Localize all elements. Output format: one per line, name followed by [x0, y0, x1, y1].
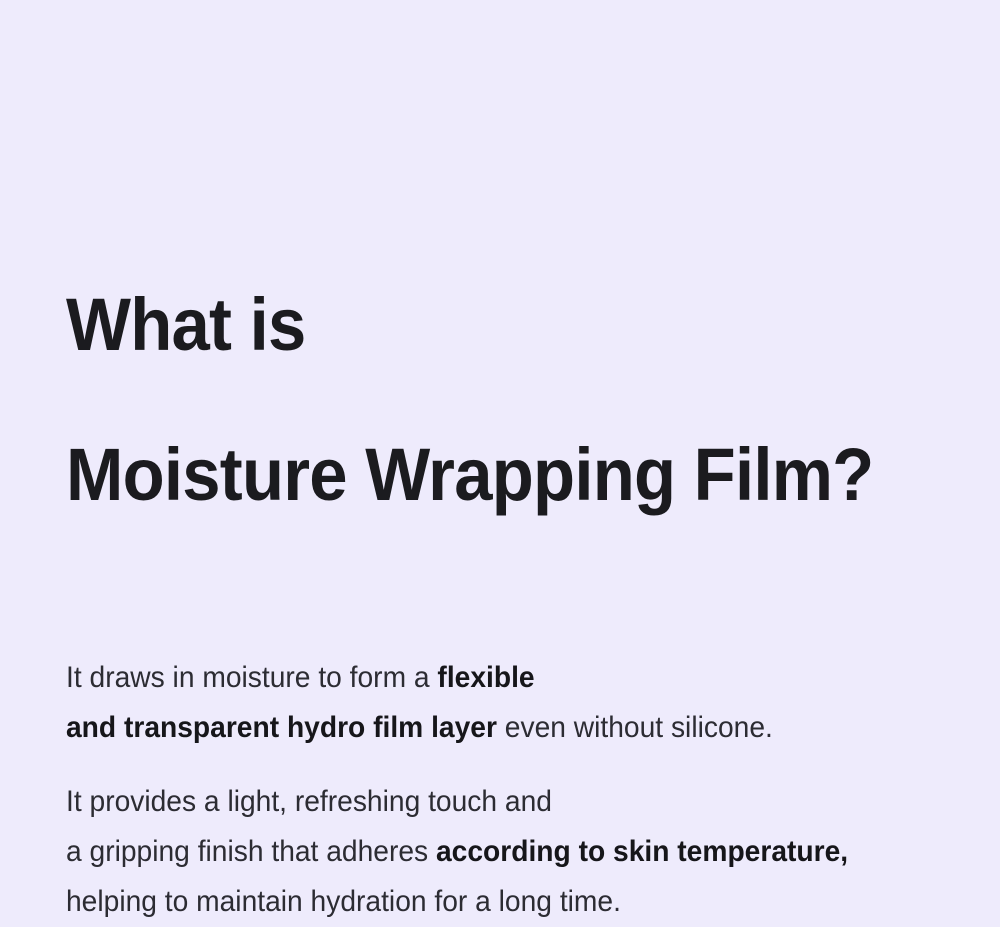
- description-paragraph-2: It provides a light, refreshing touch an…: [66, 777, 912, 927]
- page-title-line-1: What is: [66, 287, 903, 362]
- page-title: What is Moisture Wrapping Film?: [66, 212, 903, 587]
- product-info-section: What is Moisture Wrapping Film? It draws…: [0, 0, 1000, 804]
- emphasis-text: according to skin temperature,: [436, 835, 848, 868]
- paragraph-line: helping to maintain hydration for a long…: [66, 877, 912, 927]
- body-text: a gripping finish that adheres: [66, 835, 436, 868]
- body-text: even without silicone.: [497, 711, 773, 744]
- text-content-block: What is Moisture Wrapping Film? It draws…: [66, 212, 966, 927]
- paragraph-line: It provides a light, refreshing touch an…: [66, 777, 912, 827]
- emphasis-text: flexible: [437, 661, 534, 694]
- body-text: It provides a light, refreshing touch an…: [66, 785, 552, 818]
- emphasis-text: and transparent hydro film layer: [66, 711, 497, 744]
- paragraph-line: a gripping finish that adheres according…: [66, 827, 912, 877]
- paragraph-line: It draws in moisture to form a flexible: [66, 653, 912, 703]
- paragraph-line: and transparent hydro film layer even wi…: [66, 703, 912, 753]
- description-paragraph-1: It draws in moisture to form a flexiblea…: [66, 653, 912, 753]
- page-title-line-2: Moisture Wrapping Film?: [66, 437, 903, 512]
- body-text: It draws in moisture to form a: [66, 661, 437, 694]
- body-text: helping to maintain hydration for a long…: [66, 885, 621, 918]
